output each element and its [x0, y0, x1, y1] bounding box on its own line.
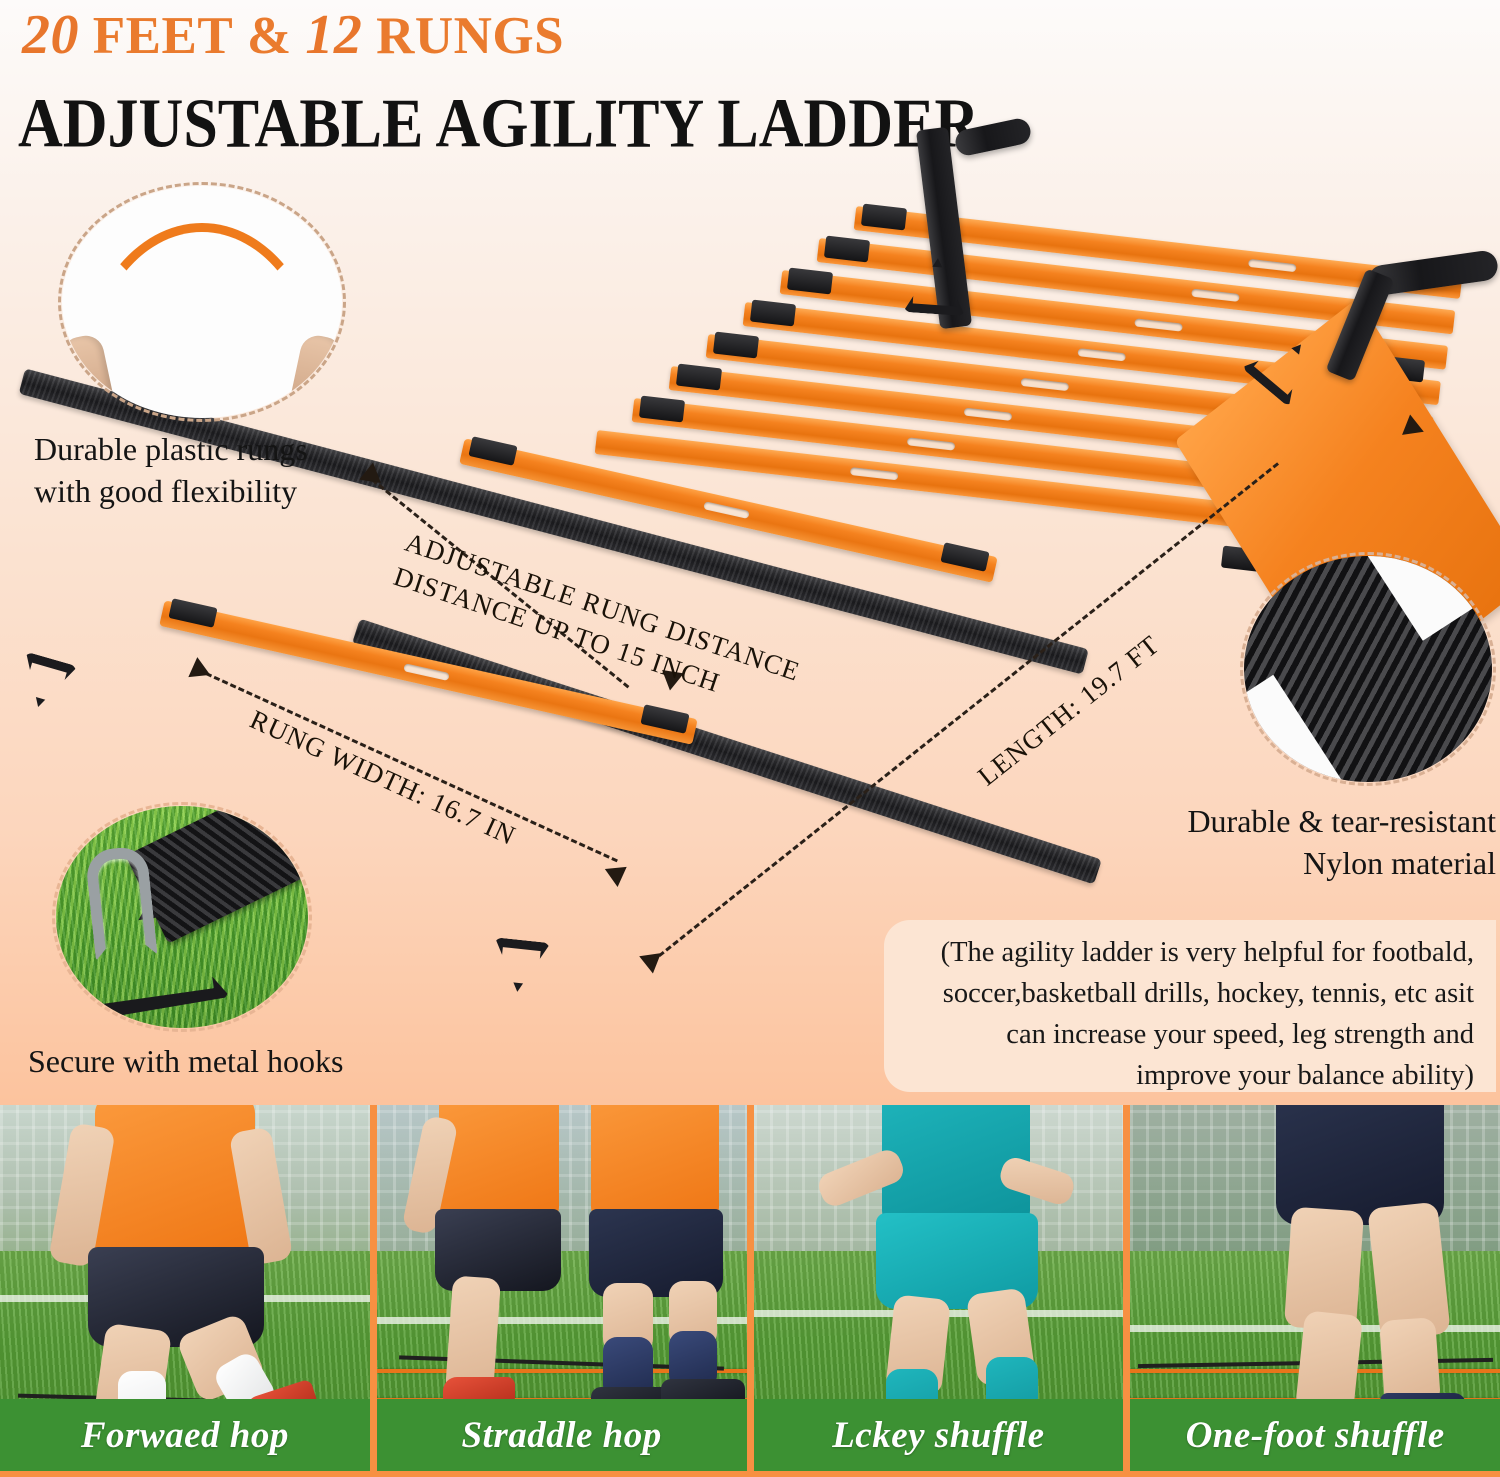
exercise-photo-strip: Forwaed hop	[0, 1105, 1500, 1477]
photo-caption: Lckey shuffle	[754, 1399, 1124, 1471]
headline-rungs-word: RUNGS	[376, 7, 564, 65]
athlete-jersey	[95, 1105, 255, 1260]
info-line-1: (The agility ladder is very helpful for …	[902, 932, 1474, 973]
metal-hook-inset-border	[52, 802, 312, 1032]
flexibility-callout-line1: Durable plastic rungs	[34, 428, 308, 470]
exercise-photo: Lckey shuffle	[754, 1105, 1124, 1471]
slat-slot	[850, 467, 899, 480]
info-line-4: improve your balance ability)	[902, 1055, 1474, 1096]
slat-slot	[1134, 318, 1183, 331]
slat-slot	[1191, 289, 1240, 302]
exercise-photo: Forwaed hop	[0, 1105, 370, 1471]
info-description-box: (The agility ladder is very helpful for …	[884, 920, 1496, 1092]
headline-ampersand: &	[247, 7, 292, 65]
slat-slot	[907, 437, 956, 450]
photo-caption: Forwaed hop	[0, 1399, 370, 1471]
rung-slot	[403, 663, 450, 681]
flexibility-callout: Durable plastic rungs with good flexibil…	[34, 428, 308, 512]
slat-slot	[964, 408, 1013, 421]
nylon-texture-inset-border	[1240, 552, 1496, 786]
photo-caption: Straddle hop	[377, 1399, 747, 1471]
rung-slot	[703, 501, 750, 519]
athlete-jersey	[439, 1105, 559, 1221]
flex-rung-inset-border	[58, 182, 346, 422]
slat-slot	[1248, 259, 1297, 272]
headline-feet-word: FEET	[93, 7, 233, 65]
hooks-callout: Secure with metal hooks	[28, 1040, 343, 1082]
headline-primary: 20 FEET & 12 RUNGS	[22, 4, 564, 67]
headline-feet-number: 20	[22, 4, 79, 66]
photo-caption: One-foot shuffle	[1130, 1399, 1500, 1471]
nylon-callout-line2: Nylon material	[1046, 842, 1496, 884]
exercise-photo: Straddle hop	[377, 1105, 747, 1471]
athlete-shorts	[435, 1209, 561, 1291]
exercise-photo: One-foot shuffle	[1130, 1105, 1500, 1471]
triangle-hook-bottom-end	[489, 937, 550, 995]
nylon-callout: Durable & tear-resistant Nylon material	[1046, 800, 1496, 884]
slat-slot	[1077, 348, 1126, 361]
slat-slot	[1021, 378, 1070, 391]
nylon-callout-line1: Durable & tear-resistant	[1046, 800, 1496, 842]
info-line-3: can increase your speed, leg strength an…	[902, 1014, 1474, 1055]
product-infographic: 20 FEET & 12 RUNGS ADJUSTABLE AGILITY LA…	[0, 0, 1500, 1477]
headline-rungs-number: 12	[305, 4, 362, 66]
flexibility-callout-line2: with good flexibility	[34, 470, 308, 512]
athlete-jersey	[591, 1105, 719, 1221]
info-line-2: soccer,basketball drills, hockey, tennis…	[902, 973, 1474, 1014]
